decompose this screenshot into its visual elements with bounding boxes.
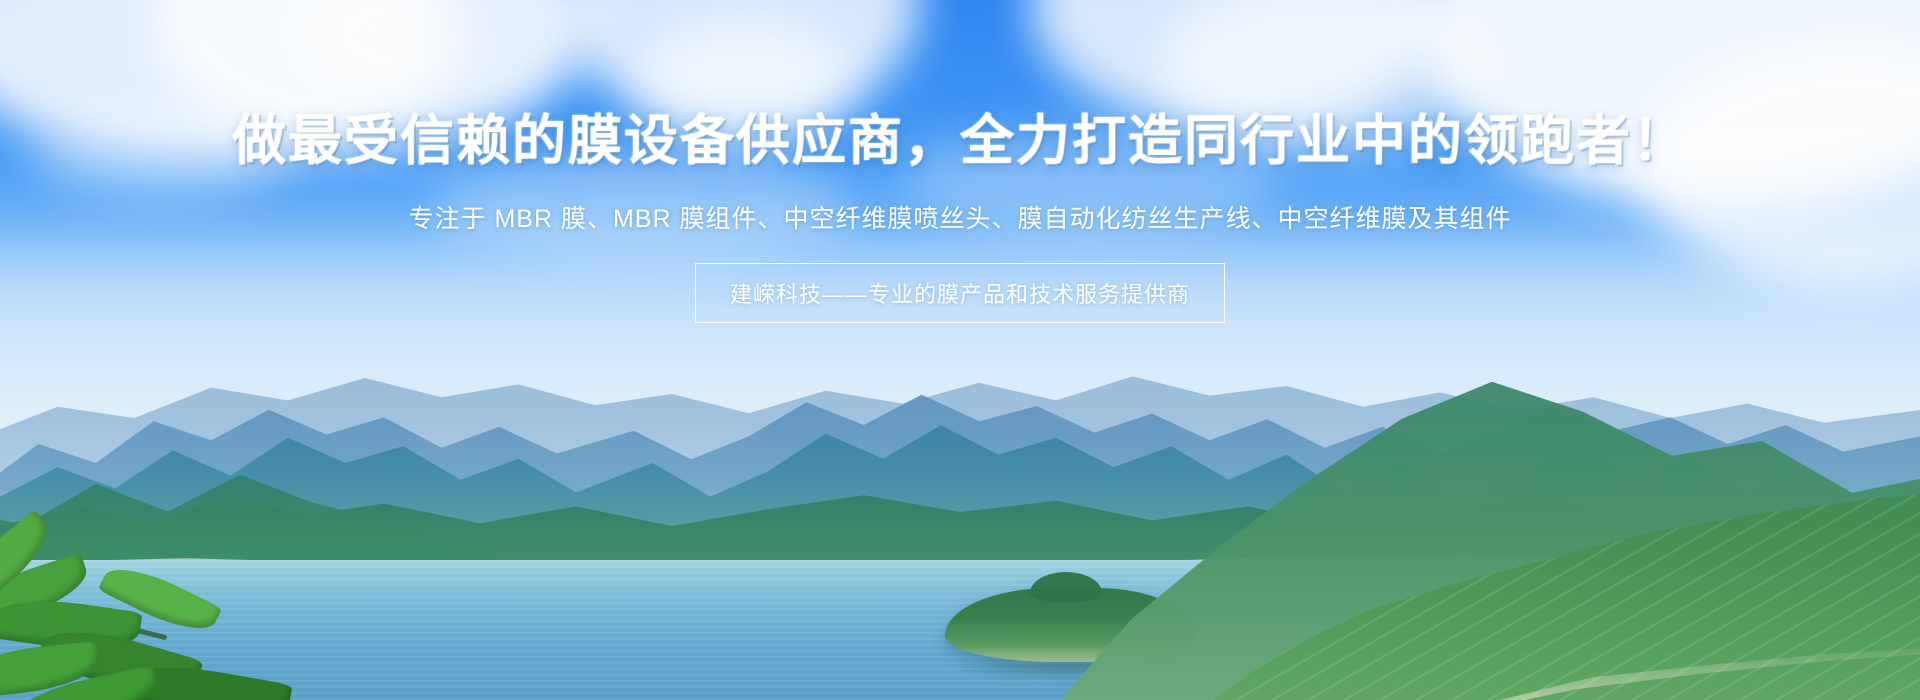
cloud-icon (30, 110, 290, 200)
cloud-icon (430, 150, 850, 260)
hero-banner: 做最受信赖的膜设备供应商，全力打造同行业中的领跑者！ 专注于 MBR 膜、MBR… (0, 0, 1920, 700)
foreground-foliage (0, 540, 290, 700)
cloud-icon (900, 130, 1280, 230)
banner-tagline-box[interactable]: 建嵘科技——专业的膜产品和技术服务提供商 (695, 263, 1225, 323)
cloud-icon (640, 20, 850, 140)
